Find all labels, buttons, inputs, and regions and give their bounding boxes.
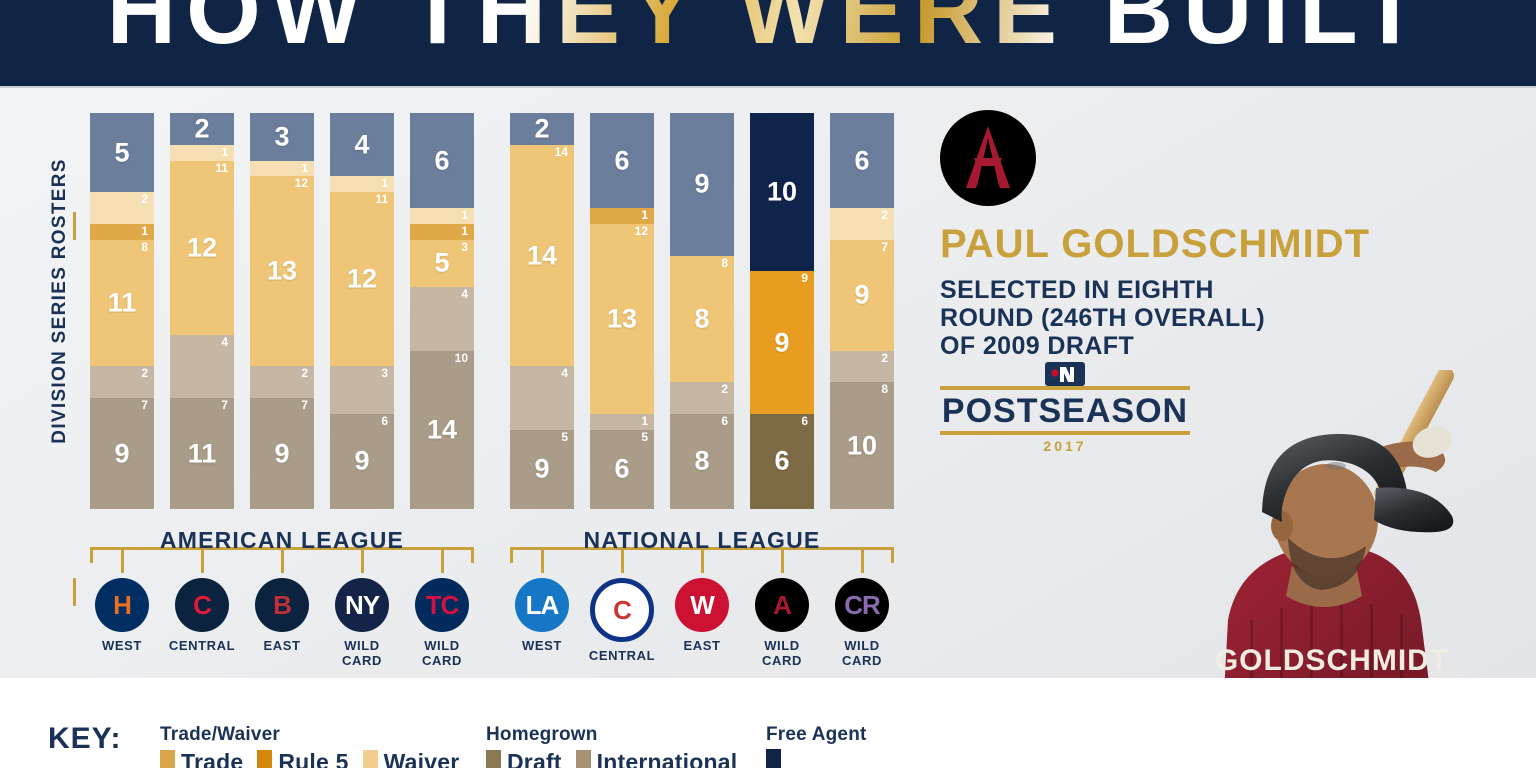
segment-free-agent: 2 [510, 113, 574, 145]
segment-group-total: 6 [410, 145, 474, 176]
segment-value: 2 [141, 367, 148, 380]
key-item-list [766, 749, 867, 768]
segment-international: 2 [670, 382, 734, 414]
key-swatch [766, 749, 781, 768]
segment-value: 12 [295, 177, 308, 190]
key-group-trade-waiver: Trade/WaiverTradeRule 5Waiver [160, 724, 459, 768]
y-axis-label: DIVISION SERIES ROSTERS [49, 121, 71, 481]
team-logo-mark: LA [526, 592, 559, 618]
team-logo-mark: NY [345, 592, 379, 618]
segment-value: 5 [561, 431, 568, 444]
key-item-international: International [576, 749, 738, 768]
segment-value: 1 [461, 209, 468, 222]
segment-international: 4 [510, 366, 574, 429]
segment-group-total: 6 [830, 145, 894, 176]
team-logo-mark: H [113, 592, 131, 618]
key-group-title: Free Agent [766, 724, 867, 746]
team-logo-mark: C [193, 592, 211, 618]
key-swatch [160, 750, 175, 768]
bar-astros: 521118297 [90, 113, 154, 509]
segment-value: 2 [141, 193, 148, 206]
segment-value: 1 [381, 177, 388, 190]
segment-waiver: 2 [830, 208, 894, 240]
team-chc[interactable]: CCENTRAL [586, 578, 658, 664]
team-division-label: WILDCARD [826, 639, 898, 669]
key-item-draft: Draft [486, 749, 562, 768]
segment-rule-5: 1 [90, 224, 154, 240]
team-logo-mark: W [690, 592, 714, 618]
segment-value: 1 [641, 209, 648, 222]
segment-value: 1 [301, 162, 308, 175]
header-banner: HOW THEY WERE BUILT [0, 0, 1536, 88]
segment-free-agent: 6 [830, 113, 894, 208]
segment-value: 1 [221, 146, 228, 159]
segment-free-agent: 3 [250, 113, 314, 161]
key-label: International [597, 749, 738, 768]
segment-free-agent: 6 [590, 113, 654, 208]
team-logo-mark: C [613, 597, 631, 623]
team-logo-icon-col: CR [835, 578, 889, 632]
segment-group-total: 2 [170, 113, 234, 144]
bar-red-sox: 311312297 [250, 113, 314, 509]
key-item-rule-5: Rule 5 [257, 749, 348, 768]
segment-value: 11 [375, 193, 388, 206]
segment-value: 6 [801, 415, 808, 428]
team-division-label: EAST [666, 639, 738, 654]
segment-value: 3 [461, 241, 468, 254]
segment-group-total: 13 [590, 303, 654, 334]
team-logo-mark: CR [844, 592, 880, 618]
segment-draft: 96 [330, 414, 394, 509]
key-label: Draft [507, 749, 562, 768]
team-logo-icon-nyy: NY [335, 578, 389, 632]
key-label: Rule 5 [278, 749, 348, 768]
segment-group-total: 10 [830, 430, 894, 461]
key-swatch [363, 750, 378, 768]
segment-value: 5 [641, 431, 648, 444]
bar-nationals: 988286 [670, 113, 734, 509]
team-hou[interactable]: HWEST [86, 578, 158, 654]
league-name-national-league: NATIONAL LEAGUE [510, 527, 894, 554]
segment-value: 2 [881, 209, 888, 222]
team-logo-icon-chc: C [590, 578, 654, 642]
key-swatch [576, 750, 591, 768]
page-title: HOW THEY WERE BUILT [0, 0, 1536, 66]
team-division-label: CENTRAL [586, 649, 658, 664]
player-detail-line-2: ROUND (246TH OVERALL) [940, 304, 1500, 332]
key-item-list: DraftInternational [486, 749, 737, 768]
segment-value: 7 [221, 399, 228, 412]
team-col[interactable]: CRWILDCARD [826, 578, 898, 669]
stacked-bar-chart: 5211182972112114117311312297411211396611… [90, 113, 920, 509]
segment-value: 10 [455, 352, 468, 365]
segment-free-agent: 10 [750, 113, 814, 271]
segment-group-total: 2 [510, 113, 574, 144]
team-logo-icon-hou: H [95, 578, 149, 632]
segment-draft: 1410 [410, 351, 474, 509]
y-axis-label-group: DIVISION SERIES ROSTERS [30, 100, 90, 520]
segment-group-total: 14 [510, 240, 574, 271]
segment-value: 7 [141, 399, 148, 412]
segment-value: 2 [721, 383, 728, 396]
segment-value: 4 [221, 336, 228, 349]
segment-draft: 108 [830, 382, 894, 509]
segment-trade: 88 [670, 256, 734, 383]
player-detail-line-3: OF 2009 DRAFT [940, 332, 1500, 360]
segment-value: 6 [721, 415, 728, 428]
segment-international: 2 [830, 351, 894, 383]
segment-waiver: 1 [330, 176, 394, 192]
segment-international: 3 [330, 366, 394, 414]
segment-group-total: 9 [250, 438, 314, 469]
diamondbacks-logo-icon [940, 110, 1036, 206]
segment-draft: 95 [510, 430, 574, 509]
segment-group-total: 13 [250, 256, 314, 287]
segment-group-total: 3 [250, 121, 314, 152]
bar-diamondbacks: 109966 [750, 113, 814, 509]
league-name-american-league: AMERICAN LEAGUE [90, 527, 474, 554]
segment-value: 3 [381, 367, 388, 380]
segment-waiver: 1 [410, 208, 474, 224]
team-division-label: WILDCARD [746, 639, 818, 669]
segment-draft: 97 [250, 398, 314, 509]
team-logo-icon-lad: LA [515, 578, 569, 632]
segment-group-total: 9 [830, 280, 894, 311]
player-name: PAUL GOLDSCHMIDT [940, 224, 1500, 264]
segment-trade: 1414 [510, 145, 574, 367]
segment-value: 8 [141, 241, 148, 254]
segment-rule-5: 1 [590, 208, 654, 224]
segment-free-agent: 4 [330, 113, 394, 176]
segment-group-total: 9 [510, 454, 574, 485]
player-detail-line-1: SELECTED IN EIGHTH [940, 276, 1500, 304]
team-ari[interactable]: AWILDCARD [746, 578, 818, 669]
mlb-logo-icon [1042, 360, 1088, 388]
segment-value: 7 [301, 399, 308, 412]
team-lad[interactable]: LAWEST [506, 578, 578, 654]
segment-draft: 97 [90, 398, 154, 509]
segment-value: 14 [555, 146, 568, 159]
key-group-title: Trade/Waiver [160, 724, 459, 746]
team-logo-icon-ari: A [755, 578, 809, 632]
key-group-homegrown: HomegrownDraftInternational [486, 724, 737, 768]
segment-value: 1 [141, 225, 148, 238]
segment-value: 8 [881, 383, 888, 396]
key-label: Waiver [384, 749, 460, 768]
segment-value: 2 [301, 367, 308, 380]
team-logo-icon-wsh: W [675, 578, 729, 632]
bar-cubs: 611312165 [590, 113, 654, 509]
segment-value: 4 [561, 367, 568, 380]
segment-trade: 1312 [250, 176, 314, 366]
segment-waiver: 1 [170, 145, 234, 161]
team-cle[interactable]: CCENTRAL [166, 578, 238, 654]
segment-value: 11 [215, 162, 228, 175]
bar-rockies: 62972108 [830, 113, 894, 509]
segment-group-total: 6 [590, 454, 654, 485]
key-item-free-agent [766, 749, 781, 768]
team-logo-icon-min: TC [415, 578, 469, 632]
key-group-free-agent: Free Agent [766, 724, 867, 768]
segment-group-total: 12 [170, 232, 234, 263]
segment-value: 7 [881, 241, 888, 254]
segment-trade: 99 [750, 271, 814, 414]
segment-value: 2 [881, 352, 888, 365]
segment-value: 9 [801, 272, 808, 285]
segment-draft: 117 [170, 398, 234, 509]
key-swatch [257, 750, 272, 768]
segment-group-total: 11 [170, 438, 234, 469]
segment-group-total: 6 [590, 145, 654, 176]
segment-trade: 1312 [590, 224, 654, 414]
team-wsh[interactable]: WEAST [666, 578, 738, 654]
segment-draft: 66 [750, 414, 814, 509]
segment-group-total: 11 [90, 288, 154, 319]
segment-rule-5: 1 [410, 224, 474, 240]
segment-draft: 86 [670, 414, 734, 509]
segment-international: 2 [90, 366, 154, 398]
team-logo-mark: TC [426, 592, 459, 618]
segment-group-total: 4 [330, 129, 394, 160]
segment-trade: 53 [410, 240, 474, 288]
team-division-label: WEST [506, 639, 578, 654]
segment-waiver: 1 [250, 161, 314, 177]
segment-value: 4 [461, 288, 468, 301]
segment-international: 4 [410, 287, 474, 350]
segment-group-total: 8 [670, 303, 734, 334]
segment-free-agent: 2 [170, 113, 234, 145]
team-division-label: WILDCARD [326, 639, 398, 669]
segment-group-total: 10 [750, 177, 814, 208]
bar-indians: 2112114117 [170, 113, 234, 509]
team-division-label: EAST [246, 639, 318, 654]
segment-trade: 97 [830, 240, 894, 351]
segment-free-agent: 5 [90, 113, 154, 192]
key-group-title: Homegrown [486, 724, 737, 746]
segment-draft: 65 [590, 430, 654, 509]
team-division-label: WEST [86, 639, 158, 654]
infographic-root: HOW THEY WERE BUILT DIVISION SERIES ROST… [0, 0, 1536, 768]
team-division-label: WILDCARD [406, 639, 478, 669]
segment-free-agent: 6 [410, 113, 474, 208]
team-logo-mark: A [773, 592, 791, 618]
dbacks-a-glyph [948, 118, 1028, 198]
key-item-list: TradeRule 5Waiver [160, 749, 459, 768]
segment-group-total: 5 [90, 137, 154, 168]
axis-dash-bottom [73, 578, 76, 606]
team-logo-icon-cle: C [175, 578, 229, 632]
team-bos[interactable]: BEAST [246, 578, 318, 654]
team-logo-icon-bos: B [255, 578, 309, 632]
key-item-waiver: Waiver [363, 749, 460, 768]
segment-free-agent: 9 [670, 113, 734, 256]
key-label: Trade [181, 749, 243, 768]
segment-international: 4 [170, 335, 234, 398]
key-swatch [486, 750, 501, 768]
segment-group-total: 12 [330, 264, 394, 295]
team-min[interactable]: TCWILDCARD [406, 578, 478, 669]
bar-twins: 6115341410 [410, 113, 474, 509]
team-logo-mark: B [273, 592, 291, 618]
segment-value: 12 [635, 225, 648, 238]
segment-group-total: 9 [330, 446, 394, 477]
segment-trade: 1211 [330, 192, 394, 366]
key-item-trade: Trade [160, 749, 243, 768]
segment-value: 1 [641, 415, 648, 428]
segment-international: 2 [250, 366, 314, 398]
segment-group-total: 8 [670, 446, 734, 477]
segment-value: 8 [721, 257, 728, 270]
team-division-label: CENTRAL [166, 639, 238, 654]
segment-waiver: 2 [90, 192, 154, 224]
segment-group-total: 14 [410, 414, 474, 445]
axis-dash-top [73, 212, 76, 240]
segment-trade: 1211 [170, 161, 234, 335]
segment-trade: 118 [90, 240, 154, 367]
segment-value: 1 [461, 225, 468, 238]
bar-yankees: 411211396 [330, 113, 394, 509]
segment-international: 1 [590, 414, 654, 430]
segment-group-total: 9 [670, 169, 734, 200]
team-nyy[interactable]: NYWILDCARD [326, 578, 398, 669]
bar-dodgers: 21414495 [510, 113, 574, 509]
segment-group-total: 9 [750, 327, 814, 358]
segment-group-total: 6 [750, 446, 814, 477]
segment-value: 6 [381, 415, 388, 428]
key-word: KEY: [48, 722, 121, 756]
segment-group-total: 9 [90, 438, 154, 469]
